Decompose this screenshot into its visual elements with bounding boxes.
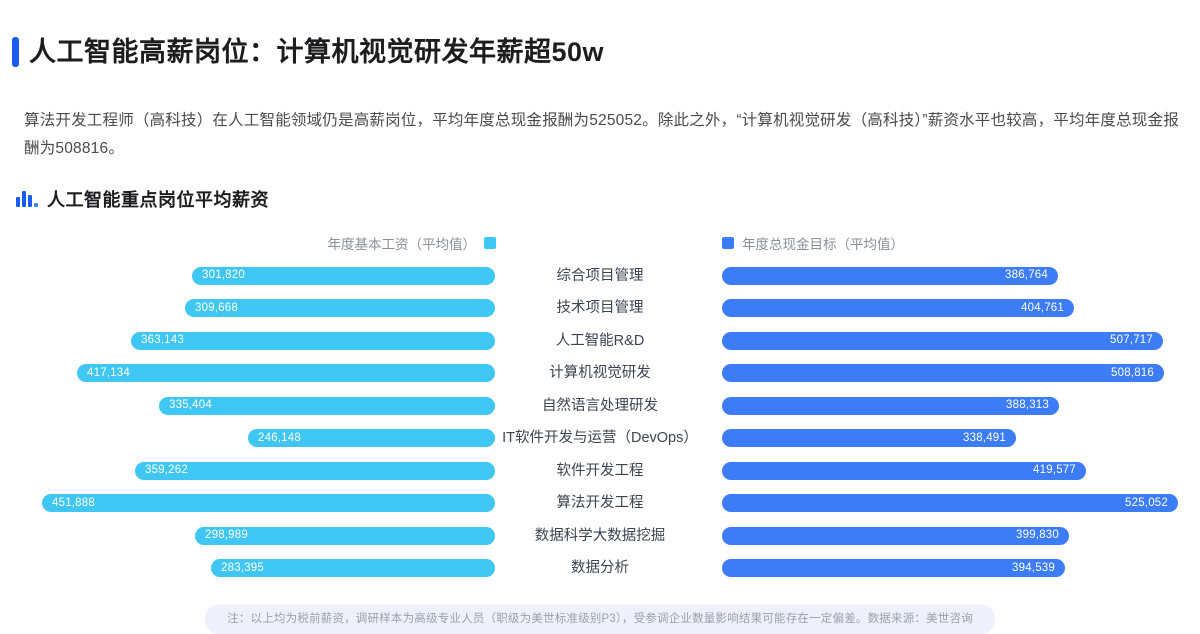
chart-row: 283,395数据分析394,539 [0, 552, 1200, 585]
title-accent-bar [12, 37, 19, 67]
bar-value-total-cash: 419,577 [1033, 465, 1076, 477]
chart-rows: 301,820综合项目管理386,764309,668技术项目管理404,761… [0, 260, 1200, 585]
bar-basic-salary[interactable]: 335,404 [159, 397, 495, 415]
bar-value-basic-salary: 451,888 [52, 498, 95, 510]
legend-label-total-cash: 年度总现金目标（平均值） [742, 233, 904, 253]
title-row: 人工智能高薪岗位：计算机视觉研发年薪超50w [12, 18, 1176, 87]
legend-swatch-total-cash [722, 237, 734, 249]
bar-chart-icon [16, 190, 38, 207]
bar-total-cash[interactable]: 394,539 [722, 559, 1065, 577]
bar-value-total-cash: 525,052 [1125, 498, 1168, 510]
bar-total-cash[interactable]: 419,577 [722, 462, 1086, 480]
chart-row: 309,668技术项目管理404,761 [0, 292, 1200, 325]
chart-row: 335,404自然语言处理研发388,313 [0, 390, 1200, 423]
chart-row-label: 数据科学大数据挖掘 [495, 520, 705, 553]
bar-value-total-cash: 394,539 [1012, 563, 1055, 575]
bar-value-basic-salary: 359,262 [145, 465, 188, 477]
bar-value-basic-salary: 309,668 [195, 303, 238, 315]
chart-row: 298,989数据科学大数据挖掘399,830 [0, 520, 1200, 553]
chart-row-label: 综合项目管理 [495, 260, 705, 293]
bar-total-cash[interactable]: 525,052 [722, 494, 1178, 512]
bar-value-total-cash: 507,717 [1110, 335, 1153, 347]
chart-row: 246,148IT软件开发与运营（DevOps）338,491 [0, 422, 1200, 455]
bar-value-basic-salary: 335,404 [169, 400, 212, 412]
chart-heading: 人工智能重点岗位平均薪资 [16, 186, 1200, 212]
legend-item-total-cash[interactable]: 年度总现金目标（平均值） [722, 233, 904, 253]
chart-row: 301,820综合项目管理386,764 [0, 260, 1200, 293]
intro-paragraph: 算法开发工程师（高科技）在人工智能领域仍是高薪岗位，平均年度总现金报酬为5250… [24, 107, 1184, 164]
bar-value-basic-salary: 301,820 [202, 270, 245, 282]
chart-block: 人工智能重点岗位平均薪资 年度基本工资（平均值） 年度总现金目标（平均值） 30… [0, 186, 1200, 634]
chart-row-label: 人工智能R&D [495, 325, 705, 358]
bar-basic-salary[interactable]: 417,134 [77, 364, 495, 382]
bar-total-cash[interactable]: 388,313 [722, 397, 1059, 415]
bar-value-basic-salary: 246,148 [258, 433, 301, 445]
chart-subtitle: 人工智能重点岗位平均薪资 [47, 186, 269, 212]
legend-item-basic-salary[interactable]: 年度基本工资（平均值） [328, 233, 497, 253]
bar-basic-salary[interactable]: 309,668 [185, 299, 495, 317]
bar-value-total-cash: 338,491 [963, 433, 1006, 445]
chart-row-label: 技术项目管理 [495, 292, 705, 325]
chart-row-label: 软件开发工程 [495, 455, 705, 488]
bar-total-cash[interactable]: 338,491 [722, 429, 1016, 447]
bar-value-total-cash: 388,313 [1006, 400, 1049, 412]
chart-row-label: 数据分析 [495, 552, 705, 585]
legend-label-basic-salary: 年度基本工资（平均值） [328, 233, 477, 253]
chart-row-label: 自然语言处理研发 [495, 390, 705, 423]
chart-row: 359,262软件开发工程419,577 [0, 455, 1200, 488]
bar-basic-salary[interactable]: 451,888 [42, 494, 495, 512]
bar-basic-salary[interactable]: 363,143 [131, 332, 495, 350]
legend-swatch-basic-salary [484, 237, 496, 249]
bar-total-cash[interactable]: 399,830 [722, 527, 1069, 545]
bar-value-total-cash: 508,816 [1111, 368, 1154, 380]
footnote-wrap: 注：以上均为税前薪资，调研样本为高级专业人员（职级为美世标准级别P3），受参调企… [0, 605, 1200, 634]
page-header: 人工智能高薪岗位：计算机视觉研发年薪超50w 算法开发工程师（高科技）在人工智能… [0, 0, 1200, 164]
bar-value-total-cash: 399,830 [1016, 530, 1059, 542]
chart-row: 451,888算法开发工程525,052 [0, 487, 1200, 520]
chart-row-label: IT软件开发与运营（DevOps） [495, 422, 705, 455]
bar-basic-salary[interactable]: 298,989 [195, 527, 495, 545]
bar-basic-salary[interactable]: 301,820 [192, 267, 495, 285]
bar-value-basic-salary: 283,395 [221, 563, 264, 575]
bar-value-basic-salary: 363,143 [141, 335, 184, 347]
chart-legend: 年度基本工资（平均值） 年度总现金目标（平均值） [0, 230, 1200, 256]
bar-basic-salary[interactable]: 359,262 [135, 462, 495, 480]
chart-row-label: 算法开发工程 [495, 487, 705, 520]
chart-row: 363,143人工智能R&D507,717 [0, 325, 1200, 358]
bar-basic-salary[interactable]: 246,148 [248, 429, 495, 447]
bar-value-total-cash: 404,761 [1021, 303, 1064, 315]
bar-value-total-cash: 386,764 [1005, 270, 1048, 282]
bar-total-cash[interactable]: 508,816 [722, 364, 1164, 382]
bar-value-basic-salary: 298,989 [205, 530, 248, 542]
bar-value-basic-salary: 417,134 [87, 368, 130, 380]
bar-basic-salary[interactable]: 283,395 [211, 559, 495, 577]
bar-total-cash[interactable]: 404,761 [722, 299, 1074, 317]
chart-footnote: 注：以上均为税前薪资，调研样本为高级专业人员（职级为美世标准级别P3），受参调企… [205, 605, 995, 634]
bar-total-cash[interactable]: 507,717 [722, 332, 1163, 350]
chart-row: 417,134计算机视觉研发508,816 [0, 357, 1200, 390]
chart-row-label: 计算机视觉研发 [495, 357, 705, 390]
page-title: 人工智能高薪岗位：计算机视觉研发年薪超50w [29, 36, 604, 68]
bar-total-cash[interactable]: 386,764 [722, 267, 1058, 285]
